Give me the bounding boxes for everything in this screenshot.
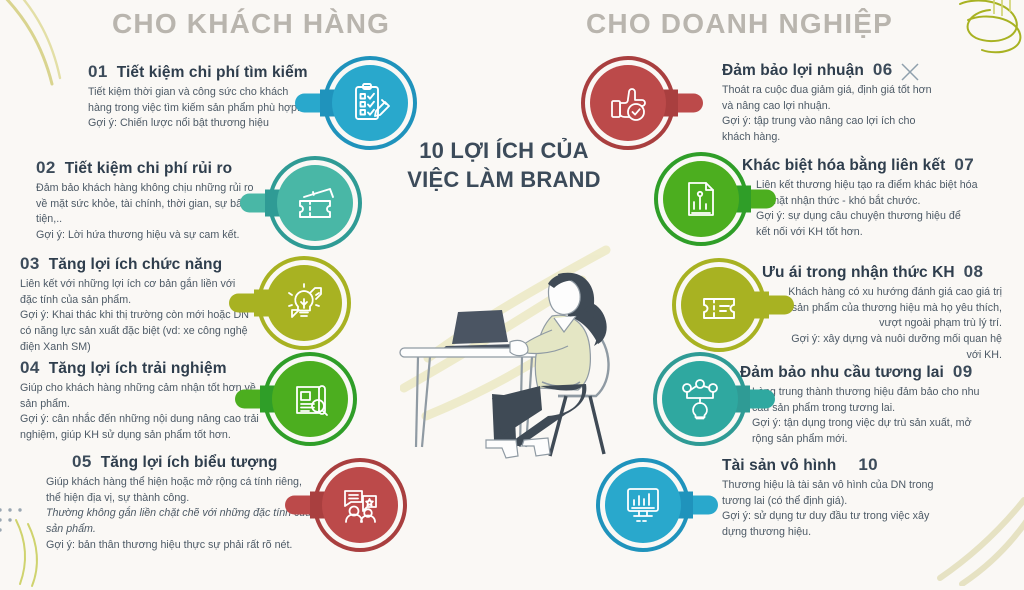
benefit-heading-09: Đảm bảo nhu cầu tương lai 09 [740, 362, 984, 382]
woman-working-at-laptop-illustration [382, 250, 632, 540]
benefit-body-09: Lòng trung thành thương hiệu đảm bảo cho… [740, 385, 984, 448]
benefit-title-05: Tăng lợi ích biểu tượng [101, 454, 278, 472]
benefit-heading-10: Tài sản vô hình 10 [722, 455, 938, 475]
benefit-title-02: Tiết kiệm chi phí rủi ro [65, 160, 232, 178]
newspaper-magnifier-icon [272, 361, 348, 437]
benefit-body-07: Liên kết thương hiệu tạo ra điểm khác bi… [742, 178, 978, 241]
benefit-item-02: 02 Tiết kiệm chi phí rủi ro Đảm bảo khác… [36, 158, 266, 244]
benefit-heading-03: 03 Tăng lợi ích chức năng [20, 254, 252, 274]
benefit-number-02: 02 [36, 158, 56, 178]
benefit-icon-badge-08 [672, 258, 766, 352]
benefit-title-10: Tài sản vô hình [722, 457, 836, 475]
speech-bubbles-people-icon [322, 467, 398, 543]
benefit-body-04: Giúp cho khách hàng những cảm nhận tốt h… [20, 381, 268, 444]
network-lightbulb-icon [662, 361, 738, 437]
benefit-body-02: Đảm bảo khách hàng không chịu những rủi … [36, 181, 266, 244]
benefit-icon-badge-05 [313, 458, 407, 552]
benefit-heading-01: 01 Tiết kiệm chi phí tìm kiếm [88, 62, 304, 82]
benefit-icon-badge-02 [268, 156, 362, 250]
benefit-item-03: 03 Tăng lợi ích chức năng Liên kết với n… [20, 254, 252, 356]
benefit-title-03: Tăng lợi ích chức năng [49, 256, 222, 274]
benefit-heading-04: 04 Tăng lợi ích trải nghiệm [20, 358, 268, 378]
benefit-item-08: Ưu ái trong nhận thức KH 08 Khách hàng c… [762, 262, 1002, 364]
benefit-body-tail-05: Gợi ý: bản thân thương hiệu thực sự phải… [46, 538, 314, 554]
benefit-body-06: Thoát ra cuộc đua giảm giá, định giá tốt… [722, 83, 938, 146]
benefit-title-06: Đảm bảo lợi nhuận [722, 62, 864, 80]
benefit-icon-badge-01 [323, 56, 417, 150]
benefit-item-01: 01 Tiết kiệm chi phí tìm kiếm Tiết kiệm … [88, 62, 304, 132]
benefit-number-04: 04 [20, 358, 40, 378]
benefit-heading-08: Ưu ái trong nhận thức KH 08 [762, 262, 1002, 282]
column-header-business: CHO DOANH NGHIỆP [586, 8, 893, 40]
benefit-icon-badge-10 [596, 458, 690, 552]
benefit-title-01: Tiết kiệm chi phí tìm kiếm [117, 64, 308, 82]
monitor-analytics-icon [605, 467, 681, 543]
page-title-line-2: VIỆC LÀM BRAND [370, 165, 638, 194]
benefit-body-08: Khách hàng có xu hướng đánh giá cao giá … [762, 285, 1002, 364]
lightbulb-idea-icon [266, 265, 342, 341]
benefit-title-08: Ưu ái trong nhận thức KH [762, 264, 955, 282]
clipboard-checklist-pencil-icon [332, 65, 408, 141]
benefit-item-07: Khác biệt hóa bằng liên kết 07 Liên kết … [742, 155, 978, 241]
benefit-item-10: Tài sản vô hình 10 Thương hiệu là tài sả… [722, 455, 938, 541]
benefit-icon-badge-09 [653, 352, 747, 446]
benefit-number-03: 03 [20, 254, 40, 274]
benefit-number-01: 01 [88, 62, 108, 82]
benefit-heading-07: Khác biệt hóa bằng liên kết 07 [742, 155, 978, 175]
benefit-icon-badge-07 [654, 152, 748, 246]
ticket-tag-icon [681, 267, 757, 343]
benefit-body-10: Thương hiệu là tài sản vô hình của DN tr… [722, 478, 938, 541]
benefit-heading-06: Đảm bảo lợi nhuận 06 [722, 60, 938, 80]
benefit-item-04: 04 Tăng lợi ích trải nghiệm Giúp cho khá… [20, 358, 268, 444]
benefit-body-05: Giúp khách hàng thể hiện hoặc mở rộng cá… [46, 475, 314, 506]
benefit-number-10: 10 [858, 455, 878, 475]
benefit-heading-02: 02 Tiết kiệm chi phí rủi ro [36, 158, 266, 178]
benefit-icon-badge-06 [581, 56, 675, 150]
benefit-title-09: Đảm bảo nhu cầu tương lai [740, 364, 944, 382]
benefit-icon-badge-03 [257, 256, 351, 350]
benefit-heading-05: 05 Tăng lợi ích biểu tượng [46, 452, 314, 472]
benefit-number-09: 09 [953, 362, 973, 382]
benefit-title-04: Tăng lợi ích trải nghiệm [49, 360, 227, 378]
benefit-body-01: Tiết kiệm thời gian và công sức cho khác… [88, 85, 304, 132]
tickets-icon [277, 165, 353, 241]
benefit-item-09: Đảm bảo nhu cầu tương lai 09 Lòng trung … [740, 362, 984, 448]
document-chart-icon [663, 161, 739, 237]
benefit-item-06: Đảm bảo lợi nhuận 06 Thoát ra cuộc đua g… [722, 60, 938, 146]
benefit-number-06: 06 [873, 60, 893, 80]
benefit-body-03: Liên kết với những lợi ích cơ bản gắn li… [20, 277, 252, 356]
column-header-customer: CHO KHÁCH HÀNG [112, 8, 390, 40]
benefit-number-08: 08 [964, 262, 984, 282]
benefit-item-05: 05 Tăng lợi ích biểu tượng Giúp khách hà… [46, 452, 314, 554]
benefit-body-italic-05: Thường không gắn liền chặt chẽ với những… [46, 506, 314, 537]
benefit-title-07: Khác biệt hóa bằng liên kết [742, 157, 945, 175]
benefit-icon-badge-04 [263, 352, 357, 446]
benefit-number-07: 07 [954, 155, 974, 175]
thumbs-up-check-icon [590, 65, 666, 141]
benefit-number-05: 05 [72, 452, 92, 472]
